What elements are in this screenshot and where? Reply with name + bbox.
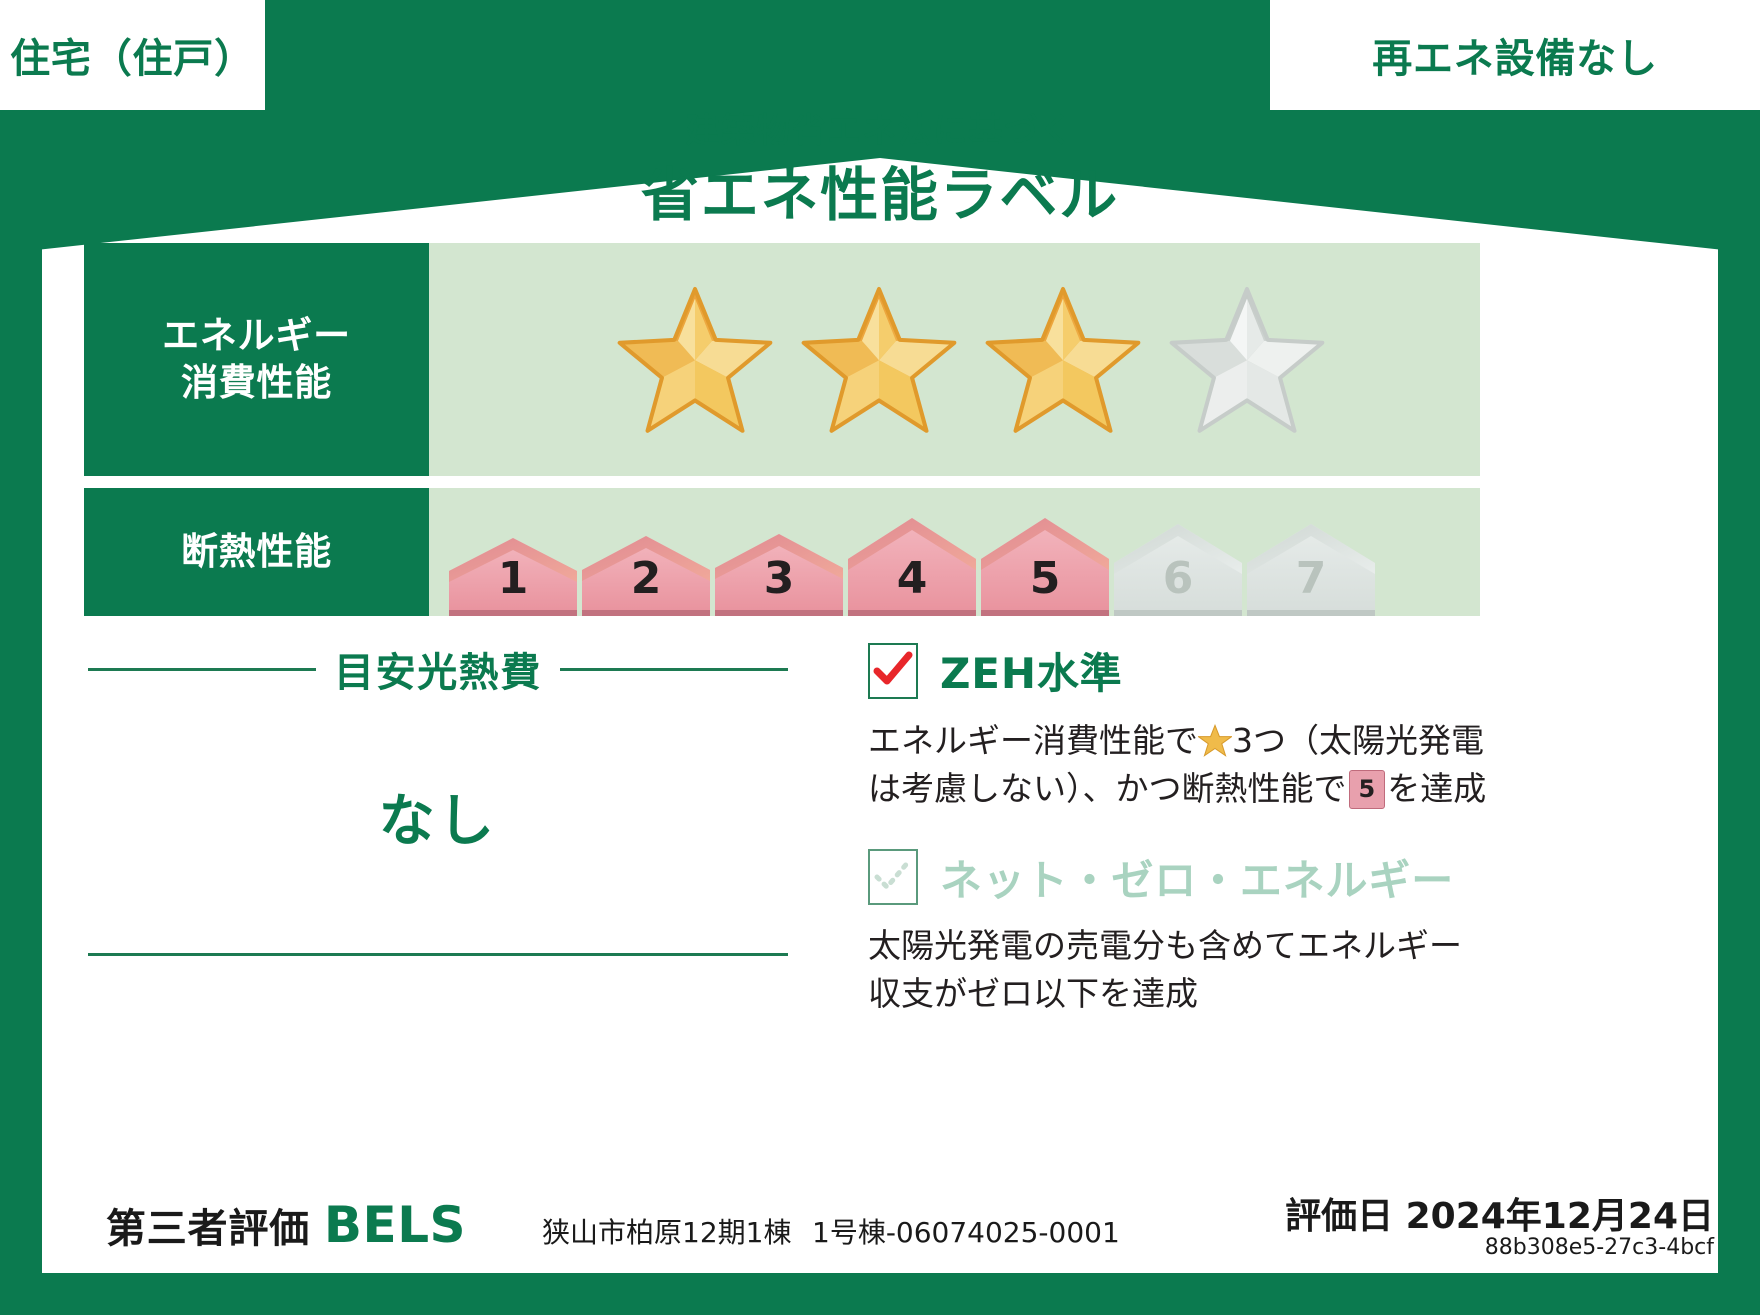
house-grade-icon: 2 <box>582 536 710 616</box>
house-grade-number: 6 <box>1114 553 1242 604</box>
house-grade-icon: 5 <box>981 518 1109 616</box>
house-grade-number: 4 <box>848 553 976 604</box>
energy-performance-label-line1: エネルギー <box>162 314 351 357</box>
utility-cost-heading-row: 目安光熱費 <box>88 640 788 698</box>
property-unit-id: 1号棟-06074025-0001 <box>812 1211 1120 1251</box>
badge-building-type: 住宅（住戸） <box>0 0 265 110</box>
evaluation-date: 評価日 2024年12月24日 <box>1285 1187 1714 1239</box>
house-grade-icon: 4 <box>848 518 976 616</box>
evaluation-id: 88b308e5-27c3-4bcf <box>1485 1235 1714 1260</box>
house-grade-number: 3 <box>715 553 843 604</box>
bels-logo: 第三者評価 BELS <box>42 1181 530 1269</box>
netzero-desc-line2: 収支がゼロ以下を達成 <box>868 974 1198 1013</box>
netzero-label: ネット・ゼロ・エネルギー <box>940 847 1454 908</box>
checkmark-icon <box>872 649 914 691</box>
divider-right <box>560 668 788 671</box>
insulation-performance-label-text: 断熱性能 <box>181 529 332 575</box>
zeh-desc-part2: 3つ（太陽光発電 <box>1232 721 1484 760</box>
netzero-heading: ネット・ゼロ・エネルギー <box>868 847 1488 908</box>
star-filled-icon <box>982 282 1144 437</box>
zeh-label: ZEH水準 <box>940 640 1123 701</box>
house-grade-number: 2 <box>582 553 710 604</box>
zeh-heading: ZEH水準 <box>868 640 1488 701</box>
property-name: 狭山市柏原12期1棟 <box>542 1211 791 1251</box>
netzero-checkbox[interactable] <box>868 849 918 905</box>
bels-third-party-text: 第三者評価 <box>106 1196 310 1254</box>
house-grade-icon: 7 <box>1247 524 1375 616</box>
insulation-grade-scale: 1234567 <box>429 488 1375 616</box>
zeh-desc-part1: エネルギー消費性能で <box>868 721 1198 760</box>
netzero-desc-line1: 太陽光発電の売電分も含めてエネルギー <box>868 926 1462 965</box>
checkbox-empty-icon <box>872 855 914 897</box>
star-filled-icon <box>614 282 776 437</box>
star-filled-icon <box>798 282 960 437</box>
star-filled-icon <box>1198 724 1232 757</box>
house-grade-number: 7 <box>1247 553 1375 604</box>
star-empty-icon <box>1166 282 1328 437</box>
energy-performance-label: エネルギー 消費性能 <box>84 243 429 476</box>
zeh-block: ZEH水準 エネルギー消費性能で3つ（太陽光発電 は考慮しない）、かつ断熱性能で… <box>868 640 1488 1017</box>
insulation-grade-badge: 5 <box>1349 770 1386 809</box>
badge-building-type-text: 住宅（住戸） <box>10 26 255 84</box>
zeh-desc-line2-b: を達成 <box>1387 769 1486 808</box>
house-grade-number: 5 <box>981 553 1109 604</box>
energy-performance-row: エネルギー 消費性能 <box>84 243 1480 476</box>
utility-cost-title: 目安光熱費 <box>334 640 542 698</box>
label-footer: 第三者評価 BELS 狭山市柏原12期1棟 1号棟-06074025-0001 … <box>42 1181 1718 1273</box>
bels-energy-performance-label: 住宅（住戸） 再エネ設備なし 建築物省エネ法に基づく 省エネ性能ラベル エネルギ… <box>0 0 1760 1315</box>
netzero-description: 太陽光発電の売電分も含めてエネルギー 収支がゼロ以下を達成 <box>868 922 1488 1018</box>
label-subtitle: 建築物省エネ法に基づく <box>0 103 1760 152</box>
house-grade-icon: 1 <box>449 538 577 616</box>
zeh-checkbox[interactable] <box>868 643 918 699</box>
energy-performance-label-line2: 消費性能 <box>181 361 332 404</box>
label-title: 省エネ性能ラベル <box>0 148 1760 232</box>
energy-performance-field <box>429 243 1480 476</box>
badge-renewable-equipment-text: 再エネ設備なし <box>1372 26 1658 84</box>
utility-cost-block: 目安光熱費 なし <box>88 640 788 956</box>
bels-brand-text: BELS <box>324 1196 466 1254</box>
zeh-desc-line2-a: は考慮しない）、かつ断熱性能で <box>868 769 1347 808</box>
badge-renewable-equipment: 再エネ設備なし <box>1270 0 1760 110</box>
utility-cost-value: なし <box>88 776 788 857</box>
house-grade-icon: 6 <box>1114 524 1242 616</box>
utility-cost-bottom-divider <box>88 953 788 956</box>
insulation-performance-field: 1234567 <box>429 488 1480 616</box>
zeh-description: エネルギー消費性能で3つ（太陽光発電 は考慮しない）、かつ断熱性能で5を達成 <box>868 717 1488 813</box>
house-grade-icon: 3 <box>715 534 843 616</box>
insulation-performance-label: 断熱性能 <box>84 488 429 616</box>
insulation-performance-row: 断熱性能 1234567 <box>84 488 1480 616</box>
divider-left <box>88 668 316 671</box>
house-grade-number: 1 <box>449 553 577 604</box>
star-rating <box>429 282 1328 437</box>
